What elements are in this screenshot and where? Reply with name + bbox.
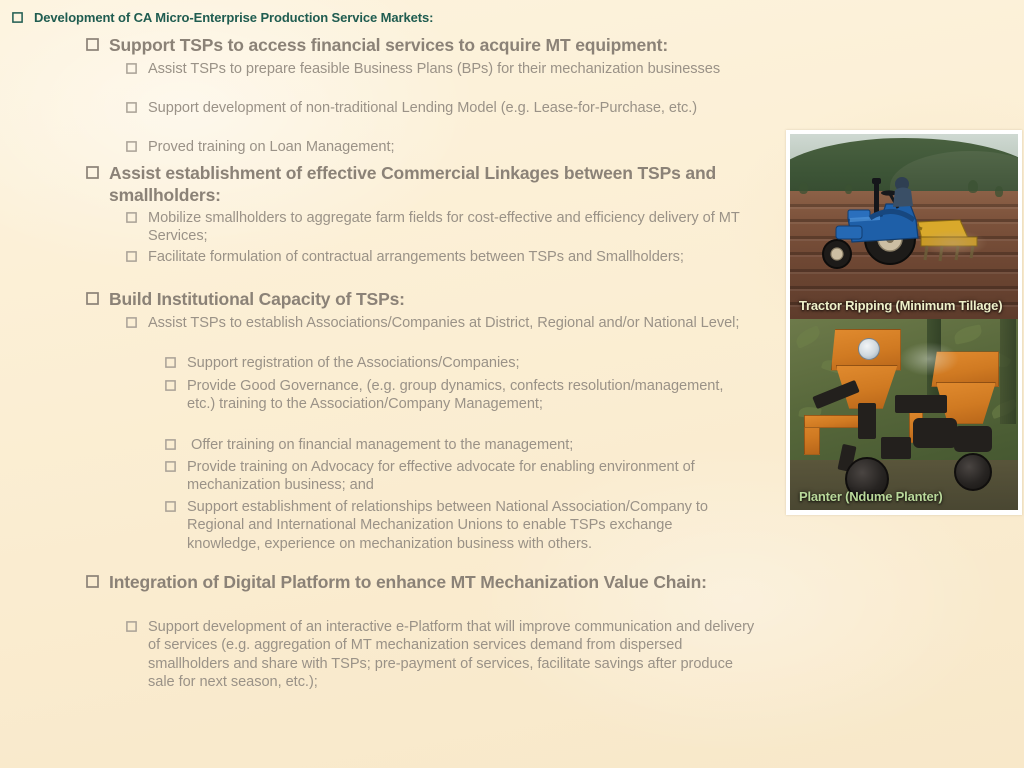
heading-text: Integration of Digital Platform to enhan… [109,571,707,593]
checkbox-bullet-icon [126,212,137,223]
sub-list-item: Offer training on financial management t… [165,436,745,454]
checkbox-bullet-icon [165,439,176,450]
photo-caption: Tractor Ripping (Minimum Tillage) [799,298,1002,313]
tractor-scene-art [790,134,1018,319]
list-item: Support development of an interactive e-… [126,618,762,692]
photo-caption: Planter (Ndume Planter) [799,489,943,504]
heading-digital-platform-integration: Integration of Digital Platform to enhan… [86,571,726,593]
list-item-text: Support development of an interactive e-… [148,618,762,692]
photo-tractor-ripping: Tractor Ripping (Minimum Tillage) [790,134,1018,319]
sub-list-item-text: Support registration of the Associations… [187,354,519,372]
checkbox-bullet-icon [126,141,137,152]
checkbox-bullet-icon [165,461,176,472]
list-item: Facilitate formulation of contractual ar… [126,248,756,266]
photo-gallery: Tractor Ripping (Minimum Tillage) [786,130,1022,515]
sub-list-item-text: Provide Good Governance, (e.g. group dyn… [187,377,745,414]
list-item-text: Assist TSPs to establish Associations/Co… [148,314,739,332]
checkbox-bullet-icon [165,380,176,391]
checkbox-bullet-icon [12,12,23,23]
checkbox-bullet-icon [126,102,137,113]
tractor-illustration [790,134,1018,319]
checkbox-bullet-icon [86,575,99,588]
section-header: Development of CA Micro-Enterprise Produ… [12,10,752,26]
planter-scene-art [790,319,1018,510]
sub-list-item-text: Support establishment of relationships b… [187,498,745,553]
heading-support-tsps-financial-services: Support TSPs to access financial service… [86,34,734,56]
heading-text: Assist establishment of effective Commer… [109,162,726,207]
list-item-text: Mobilize smallholders to aggregate farm … [148,209,756,246]
list-item: Support development of non-traditional L… [126,99,756,117]
sub-list-item: Provide training on Advocacy for effecti… [165,458,745,495]
list-item-text: Support development of non-traditional L… [148,99,697,117]
sub-list-item: Support establishment of relationships b… [165,498,745,553]
list-item-text: Assist TSPs to prepare feasible Business… [148,60,720,78]
list-item: Assist TSPs to prepare feasible Business… [126,60,756,78]
checkbox-bullet-icon [126,251,137,262]
list-item-text: Proved training on Loan Management; [148,138,395,156]
list-item: Assist TSPs to establish Associations/Co… [126,314,756,332]
list-item: Proved training on Loan Management; [126,138,756,156]
sub-list-item-text: Provide training on Advocacy for effecti… [187,458,745,495]
heading-text: Support TSPs to access financial service… [109,34,668,56]
slide-canvas: Development of CA Micro-Enterprise Produ… [0,0,1024,768]
heading-commercial-linkages: Assist establishment of effective Commer… [86,162,726,207]
photo-ndume-planter: Planter (Ndume Planter) [790,319,1018,510]
planter-wheel-right [954,453,992,491]
checkbox-bullet-icon [86,166,99,179]
checkbox-bullet-icon [86,38,99,51]
list-item-text: Facilitate formulation of contractual ar… [148,248,684,266]
sub-list-item: Provide Good Governance, (e.g. group dyn… [165,377,745,414]
section-header-text: Development of CA Micro-Enterprise Produ… [34,10,433,26]
heading-text: Build Institutional Capacity of TSPs: [109,288,405,310]
sub-list-item-text: Offer training on financial management t… [187,436,573,454]
checkbox-bullet-icon [86,292,99,305]
checkbox-bullet-icon [165,501,176,512]
checkbox-bullet-icon [126,621,137,632]
list-item: Mobilize smallholders to aggregate farm … [126,209,756,246]
heading-build-institutional-capacity: Build Institutional Capacity of TSPs: [86,288,734,310]
checkbox-bullet-icon [165,357,176,368]
checkbox-bullet-icon [126,63,137,74]
checkbox-bullet-icon [126,317,137,328]
sub-list-item: Support registration of the Associations… [165,354,745,372]
